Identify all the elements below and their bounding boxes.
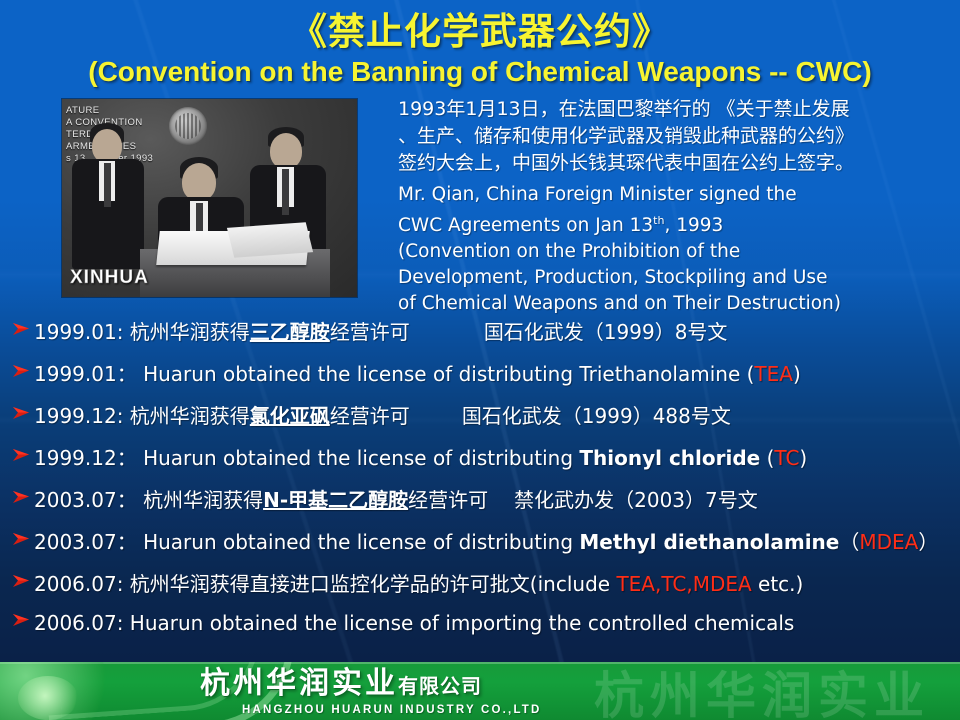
signing-ceremony-photo: ATURE A CONVENTION TERDICTI ARMES QUES s… (62, 99, 357, 297)
list-item-body: Huarun obtained the license of distribut… (137, 362, 755, 386)
bullet-arrow-icon (12, 321, 32, 341)
list-item-body: 杭州华润获得 (123, 320, 249, 344)
bullet-arrow-icon (12, 573, 32, 593)
ordinal-suffix: th (653, 214, 664, 227)
list-item-chemical-name: 氯化亚砜 (250, 404, 330, 428)
list-item: 1999.12： Huarun obtained the license of … (12, 442, 960, 484)
page-title-english: (Convention on the Banning of Chemical W… (0, 54, 960, 90)
list-item-text: 2006.07: Huarun obtained the license of … (34, 611, 794, 635)
list-item: 2006.07: Huarun obtained the license of … (12, 610, 960, 652)
list-item-chemical-name: TEA (754, 362, 793, 386)
list-item-body-tail: （MDEA） (839, 530, 938, 554)
english-description-paragraph: Mr. Qian, China Foreign Minister signed … (398, 182, 943, 317)
list-item-text: 2003.07： Huarun obtained the license of … (34, 526, 938, 555)
en-line-2: CWC Agreements on Jan 13th, 1993 (398, 208, 943, 239)
page-title-chinese: 《禁止化学武器公约》 (0, 10, 960, 54)
list-item-date: 2003.07： (34, 488, 137, 512)
list-item: 2006.07: 杭州华润获得直接进口监控化学品的许可批文(include TE… (12, 568, 960, 610)
list-item-date: 2006.07: (34, 572, 123, 596)
chinese-description-paragraph: 1993年1月13日，在法国巴黎举行的 《关于禁止发展 、生产、储存和使用化学武… (398, 96, 938, 177)
bullet-arrow-icon (12, 363, 32, 383)
list-item-text: 1999.12: 杭州华润获得氯化亚砜经营许可国石化武发（1999）488号文 (34, 400, 731, 429)
list-item-chemical-name: Thionyl chloride (579, 446, 760, 470)
list-item-date: 2006.07: (34, 611, 123, 635)
en-line-3: (Convention on the Prohibition of the (398, 239, 943, 265)
list-item-body: Huarun obtained the license of importing… (123, 611, 794, 635)
list-item-chemical-name: Methyl diethanolamine (579, 530, 839, 554)
bullet-arrow-icon (12, 447, 32, 467)
list-item-text: 1999.01： Huarun obtained the license of … (34, 358, 801, 387)
bullet-arrow-icon (12, 405, 32, 425)
photo-document-secondary (227, 222, 313, 258)
list-item-chemical-name: TEA,TC,MDEA (616, 572, 751, 596)
list-item-document-number: 国石化武发（1999）488号文 (462, 404, 731, 428)
en-line-2-pre: CWC Agreements on Jan 13 (398, 215, 653, 236)
list-item-chemical-name: 三乙醇胺 (250, 320, 330, 344)
slide-title-block: 《禁止化学武器公约》 (Convention on the Banning of… (0, 10, 960, 90)
list-item: 1999.01: 杭州华润获得三乙醇胺经营许可国石化武发（1999）8号文 (12, 316, 960, 358)
cn-line-3: 签约大会上，中国外长钱其琛代表中国在公约上签字。 (398, 150, 938, 177)
list-item-date: 1999.01: (34, 320, 123, 344)
en-line-2-post: , 1993 (664, 215, 723, 236)
list-item-document-number: 国石化武发（1999）8号文 (484, 320, 728, 344)
bullet-arrow-icon (12, 612, 32, 632)
brand-main: 杭州华润实业 (200, 666, 398, 701)
list-item-date: 1999.12： (34, 446, 137, 470)
list-item-body-tail: etc.) (752, 572, 804, 596)
chemical-abbreviation: TC (774, 446, 799, 470)
list-item-body: 杭州华润获得直接进口监控化学品的许可批文(include (123, 572, 616, 596)
list-item: 1999.12: 杭州华润获得氯化亚砜经营许可国石化武发（1999）488号文 (12, 400, 960, 442)
en-line-5: of Chemical Weapons and on Their Destruc… (398, 291, 943, 317)
list-item-date: 1999.12: (34, 404, 123, 428)
en-line-4: Development, Production, Stockpiling and… (398, 265, 943, 291)
list-item: 1999.01： Huarun obtained the license of … (12, 358, 960, 400)
list-item-text: 2003.07： 杭州华润获得N-甲基二乙醇胺经营许可禁化武办发（2003）7号… (34, 484, 758, 513)
list-item-body-tail: 经营许可 (330, 320, 410, 344)
list-item-document-number: 禁化武办发（2003）7号文 (514, 488, 758, 512)
list-item-text: 1999.12： Huarun obtained the license of … (34, 442, 807, 471)
list-item-body: Huarun obtained the license of distribut… (137, 530, 580, 554)
list-item: 2003.07： 杭州华润获得N-甲基二乙醇胺经营许可禁化武办发（2003）7号… (12, 484, 960, 526)
list-item: 2003.07： Huarun obtained the license of … (12, 526, 960, 568)
company-logo-banner: 杭州华润实业 杭州华润实业有限公司 HANGZHOU HUARUN INDUST… (0, 662, 960, 720)
bullet-arrow-icon (12, 531, 32, 551)
cn-line-1: 1993年1月13日，在法国巴黎举行的 《关于禁止发展 (398, 96, 938, 123)
list-item-date: 2003.07： (34, 530, 137, 554)
list-item-body-tail: 经营许可 (408, 488, 488, 512)
list-item-body: 杭州华润获得 (123, 404, 249, 428)
en-line-1: Mr. Qian, China Foreign Minister signed … (398, 182, 943, 208)
brand-name-english: HANGZHOU HUARUN INDUSTRY CO.,LTD (242, 703, 542, 717)
brand-name-block: 杭州华润实业有限公司 HANGZHOU HUARUN INDUSTRY CO.,… (200, 667, 542, 717)
un-emblem-icon (169, 107, 207, 145)
logo-ghost-text: 杭州华润实业 (594, 662, 930, 720)
list-item-date: 1999.01： (34, 362, 137, 386)
presentation-slide: 《禁止化学武器公约》 (Convention on the Banning of… (0, 0, 960, 720)
list-item-text: 2006.07: 杭州华润获得直接进口监控化学品的许可批文(include TE… (34, 568, 803, 597)
list-item-body-tail: ) (793, 362, 801, 386)
list-item-text: 1999.01: 杭州华润获得三乙醇胺经营许可国石化武发（1999）8号文 (34, 316, 727, 345)
cn-line-2: 、生产、储存和使用化学武器及销毁此种武器的公约》 (398, 123, 938, 150)
list-item-body: Huarun obtained the license of distribut… (137, 446, 580, 470)
photo-watermark: XINHUA (70, 267, 149, 289)
chemical-abbreviation: MDEA (859, 530, 918, 554)
brand-suffix: 有限公司 (398, 674, 482, 698)
list-item-body: 杭州华润获得 (137, 488, 263, 512)
timeline-bullet-list: 1999.01: 杭州华润获得三乙醇胺经营许可国石化武发（1999）8号文199… (12, 316, 960, 652)
bullet-arrow-icon (12, 489, 32, 509)
list-item-body-tail: 经营许可 (330, 404, 410, 428)
brand-name-chinese: 杭州华润实业有限公司 (200, 667, 542, 703)
list-item-chemical-name: N-甲基二乙醇胺 (263, 488, 408, 512)
list-item-body-tail: (TC) (760, 446, 807, 470)
